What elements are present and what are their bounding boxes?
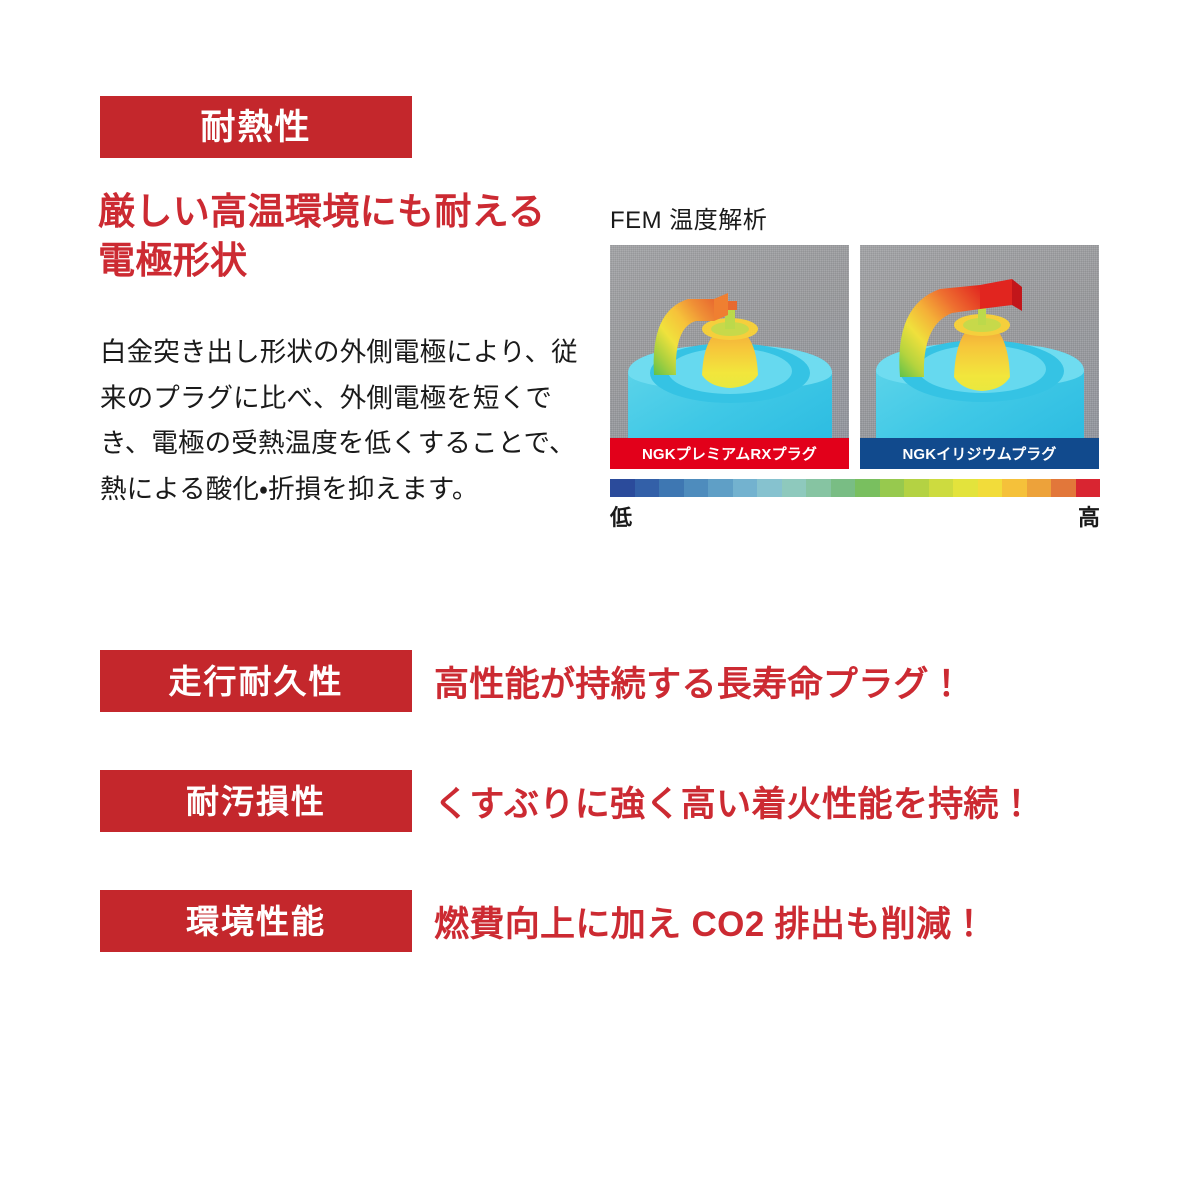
scale-segment-15 (978, 479, 1003, 497)
feature-badge-fouling-resistance: 耐汚損性 (100, 770, 412, 832)
heading-line-1: 厳しい高温環境にも耐える (98, 188, 598, 237)
scale-segment-4 (708, 479, 733, 497)
temperature-scale-bar (610, 479, 1100, 497)
fem-panel-premium-rx: NGKプレミアムRXプラグ (610, 245, 849, 469)
scale-segment-6 (757, 479, 782, 497)
heat-resistance-heading: 厳しい高温環境にも耐える 電極形状 (98, 188, 598, 286)
fem-analysis-title: FEM 温度解析 (610, 200, 1100, 235)
scale-segment-9 (831, 479, 856, 497)
feature-badge-environmental: 環境性能 (100, 890, 412, 952)
scale-segment-1 (635, 479, 660, 497)
feature-text-fouling-resistance: くすぶりに強く高い着火性能を持続！ (434, 776, 1034, 827)
scale-segment-2 (659, 479, 684, 497)
thermal-render-premium-rx (610, 245, 849, 469)
scale-segment-18 (1051, 479, 1076, 497)
scale-segment-11 (880, 479, 905, 497)
feature-row-fouling-resistance: 耐汚損性 くすぶりに強く高い着火性能を持続！ (100, 770, 1100, 832)
scale-label-high: 高 (1078, 500, 1100, 532)
scale-segment-16 (1002, 479, 1027, 497)
section-badge-heat-resistance: 耐熱性 (100, 96, 412, 158)
temperature-scale-labels: 低 高 (610, 500, 1100, 532)
feature-row-durability: 走行耐久性 高性能が持続する長寿命プラグ！ (100, 650, 1100, 712)
temperature-scale: 低 高 (610, 479, 1100, 532)
scale-segment-14 (953, 479, 978, 497)
scale-segment-19 (1076, 479, 1101, 497)
thermal-render-iridium (860, 245, 1099, 469)
feature-list: 走行耐久性 高性能が持続する長寿命プラグ！ 耐汚損性 くすぶりに強く高い着火性能… (100, 650, 1100, 1010)
scale-segment-10 (855, 479, 880, 497)
fem-caption-iridium: NGKイリジウムプラグ (860, 438, 1099, 469)
heat-resistance-body-text: 白金突き出し形状の外側電極により、従来のプラグに比べ、外側電極を短くでき、電極の… (100, 330, 580, 512)
scale-segment-7 (782, 479, 807, 497)
scale-label-low: 低 (610, 500, 632, 532)
scale-segment-5 (733, 479, 758, 497)
feature-text-durability: 高性能が持続する長寿命プラグ！ (434, 656, 964, 707)
fem-analysis-block: FEM 温度解析 (610, 200, 1100, 532)
scale-segment-0 (610, 479, 635, 497)
product-feature-page: 耐熱性 厳しい高温環境にも耐える 電極形状 白金突き出し形状の外側電極により、従… (0, 0, 1200, 1200)
scale-segment-12 (904, 479, 929, 497)
fem-panel-iridium: NGKイリジウムプラグ (860, 245, 1099, 469)
feature-badge-durability: 走行耐久性 (100, 650, 412, 712)
scale-segment-8 (806, 479, 831, 497)
scale-segment-17 (1027, 479, 1052, 497)
fem-caption-premium-rx: NGKプレミアムRXプラグ (610, 438, 849, 469)
heading-line-2: 電極形状 (98, 237, 598, 286)
fem-panel-group: NGKプレミアムRXプラグ (610, 245, 1100, 469)
scale-segment-3 (684, 479, 709, 497)
scale-segment-13 (929, 479, 954, 497)
feature-text-environmental: 燃費向上に加え CO2 排出も削減！ (434, 896, 987, 947)
feature-row-environmental: 環境性能 燃費向上に加え CO2 排出も削減！ (100, 890, 1100, 952)
